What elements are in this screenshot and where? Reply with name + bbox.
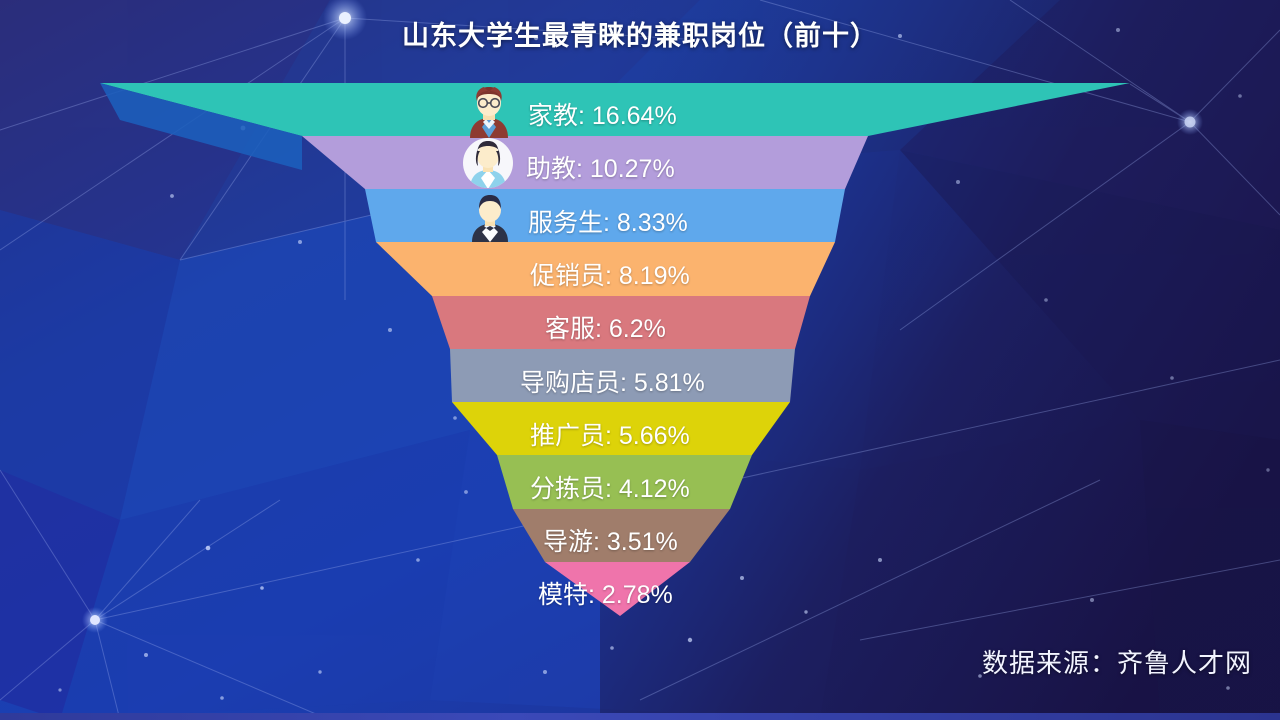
funnel-label-kefu: 客服: 6.2% — [545, 309, 666, 345]
bottom-accent-strip — [0, 713, 1280, 720]
data-source-note: 数据来源：齐鲁人才网 — [982, 643, 1252, 680]
funnel-label-fuwusheng: 服务生: 8.33% — [528, 203, 688, 239]
funnel-label-daogoudianyuan: 导购店员: 5.81% — [520, 363, 705, 399]
funnel-label-cuxiaoyuan: 促销员: 8.19% — [530, 256, 690, 292]
funnel-label-zhujiao: 助教: 10.27% — [526, 149, 675, 185]
assistant-female-avatar-icon — [460, 137, 516, 189]
infographic-canvas: 山东大学生最青睐的兼职岗位（前十） 家教: 16.64% — [0, 0, 1280, 720]
funnel-label-mote: 模特: 2.78% — [538, 575, 673, 611]
funnel-label-jiajiao: 家教: 16.64% — [528, 96, 677, 132]
tutor-male-avatar-icon — [458, 82, 520, 138]
funnel-label-daoyou: 导游: 3.51% — [543, 522, 678, 558]
page-title: 山东大学生最青睐的兼职岗位（前十） — [0, 14, 1280, 53]
funnel-label-fenjianyuan: 分拣员: 4.12% — [530, 469, 690, 505]
waiter-avatar-icon — [462, 192, 518, 242]
funnel-label-tuiguangyuan: 推广员: 5.66% — [530, 416, 690, 452]
